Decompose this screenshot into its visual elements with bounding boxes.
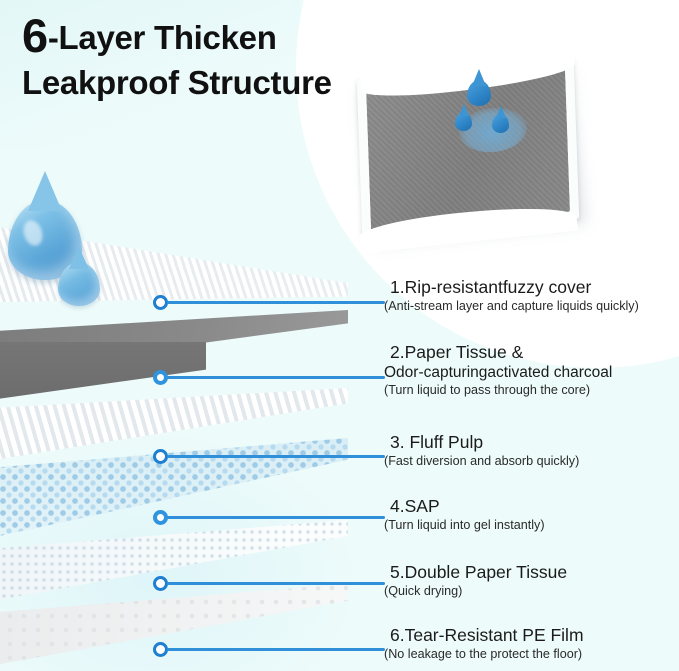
- callout-rule-5: [167, 582, 385, 585]
- label-title-4: 4.SAP: [390, 496, 679, 517]
- label-title-6: 6.Tear-Resistant PE Film: [390, 625, 679, 646]
- title-line-one: 6-Layer Thicken: [22, 14, 442, 60]
- callout-rule-1: [167, 301, 385, 304]
- label-title-2-line-two: Odor-capturingactivated charcoal: [384, 363, 679, 382]
- callout-rule-6: [167, 648, 385, 651]
- callout-line-6: [153, 640, 385, 658]
- callout-marker-6: [153, 642, 168, 657]
- callout-marker-2: [153, 370, 168, 385]
- label-subtitle-1: (Anti-stream layer and capture liquids q…: [384, 298, 679, 315]
- label-subtitle-2: (Turn liquid to pass through the core): [384, 382, 679, 399]
- label-item-4: 4.SAP (Turn liquid into gel instantly): [390, 496, 679, 534]
- label-item-1: 1.Rip-resistantfuzzy cover (Anti-stream …: [390, 277, 679, 315]
- label-subtitle-3: (Fast diversion and absorb quickly): [384, 453, 679, 470]
- callout-line-2: [153, 368, 385, 386]
- label-item-5: 5.Double Paper Tissue (Quick drying): [390, 562, 679, 600]
- callout-line-3: [153, 447, 385, 465]
- callout-rule-3: [167, 455, 385, 458]
- callout-rule-2: [167, 376, 385, 379]
- label-title-5: 5.Double Paper Tissue: [390, 562, 679, 583]
- label-item-3: 3. Fluff Pulp (Fast diversion and absorb…: [390, 432, 679, 470]
- layer-labels: 1.Rip-resistantfuzzy cover (Anti-stream …: [390, 0, 679, 671]
- label-subtitle-6: (No leakage to the protect the floor): [384, 646, 679, 663]
- label-item-6: 6.Tear-Resistant PE Film (No leakage to …: [390, 625, 679, 663]
- callout-marker-1: [153, 295, 168, 310]
- callout-rule-4: [167, 516, 385, 519]
- label-title-3: 3. Fluff Pulp: [390, 432, 679, 453]
- callout-marker-5: [153, 576, 168, 591]
- title-line-one-rest: -Layer Thicken: [48, 19, 277, 56]
- label-subtitle-5: (Quick drying): [384, 583, 679, 600]
- callout-line-4: [153, 508, 385, 526]
- callout-marker-3: [153, 449, 168, 464]
- label-title-2: 2.Paper Tissue &: [390, 342, 679, 363]
- callout-line-1: [153, 293, 385, 311]
- callout-line-5: [153, 574, 385, 592]
- title-big-number: 6: [22, 9, 48, 62]
- label-subtitle-4: (Turn liquid into gel instantly): [384, 517, 679, 534]
- callout-marker-4: [153, 510, 168, 525]
- layer-stack-illustration: [0, 190, 400, 671]
- label-title-1: 1.Rip-resistantfuzzy cover: [390, 277, 679, 298]
- infographic-root: 6-Layer Thicken Leakproof Structure: [0, 0, 679, 671]
- label-item-2: 2.Paper Tissue & Odor-capturingactivated…: [390, 342, 679, 399]
